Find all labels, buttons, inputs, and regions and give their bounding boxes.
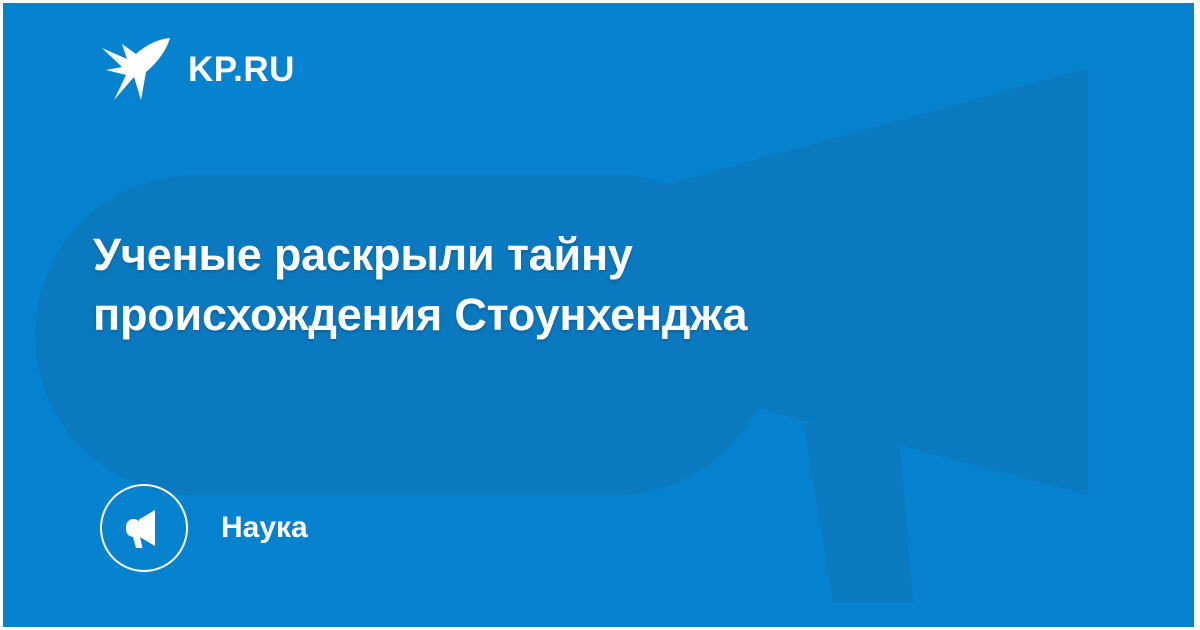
site-header: KP.RU bbox=[100, 36, 295, 102]
megaphone-icon bbox=[121, 505, 167, 551]
swallow-bird-icon bbox=[100, 36, 172, 102]
brand-name: KP.RU bbox=[188, 52, 295, 87]
share-card: KP.RU Ученые раскрыли тайну происхождени… bbox=[3, 3, 1194, 627]
rubric-badge[interactable]: Наука bbox=[100, 482, 308, 574]
rubric-label: Наука bbox=[221, 513, 308, 543]
headline-title: Ученые раскрыли тайну происхождения Стоу… bbox=[93, 225, 993, 345]
rubric-icon-circle bbox=[100, 484, 188, 572]
